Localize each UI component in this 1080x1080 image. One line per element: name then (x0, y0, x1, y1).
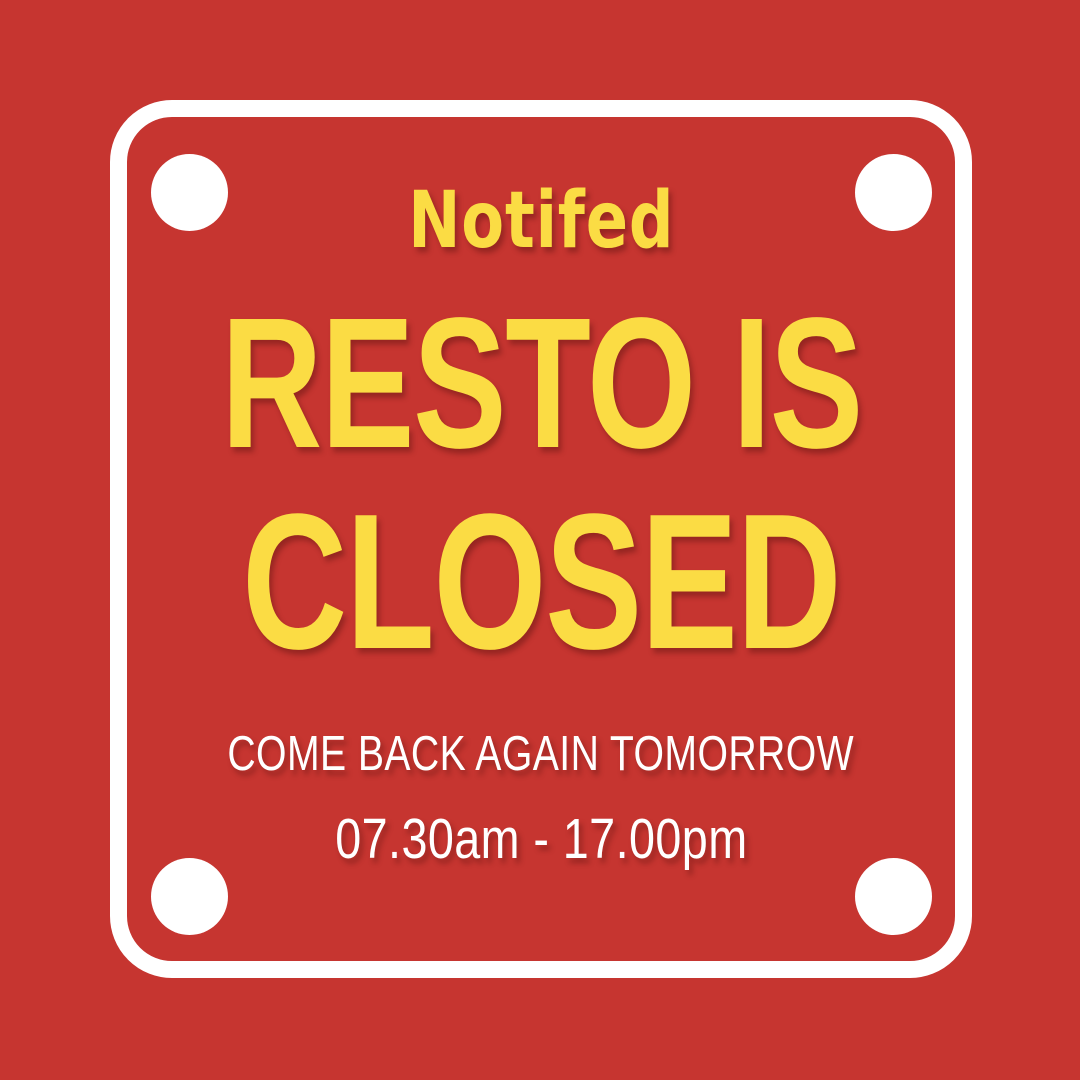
kicker-text: Notifed (408, 186, 674, 258)
sign-content: Notifed RESTO IS CLOSED COME BACK AGAIN … (110, 100, 972, 978)
subline-text: COME BACK AGAIN TOMORROW (228, 730, 855, 779)
closed-sign-poster: Notifed RESTO IS CLOSED COME BACK AGAIN … (0, 0, 1080, 1080)
headline-line-1: RESTO IS (221, 298, 862, 469)
headline-line-2: CLOSED (242, 493, 840, 671)
opening-hours-text: 07.30am - 17.00pm (335, 811, 747, 868)
